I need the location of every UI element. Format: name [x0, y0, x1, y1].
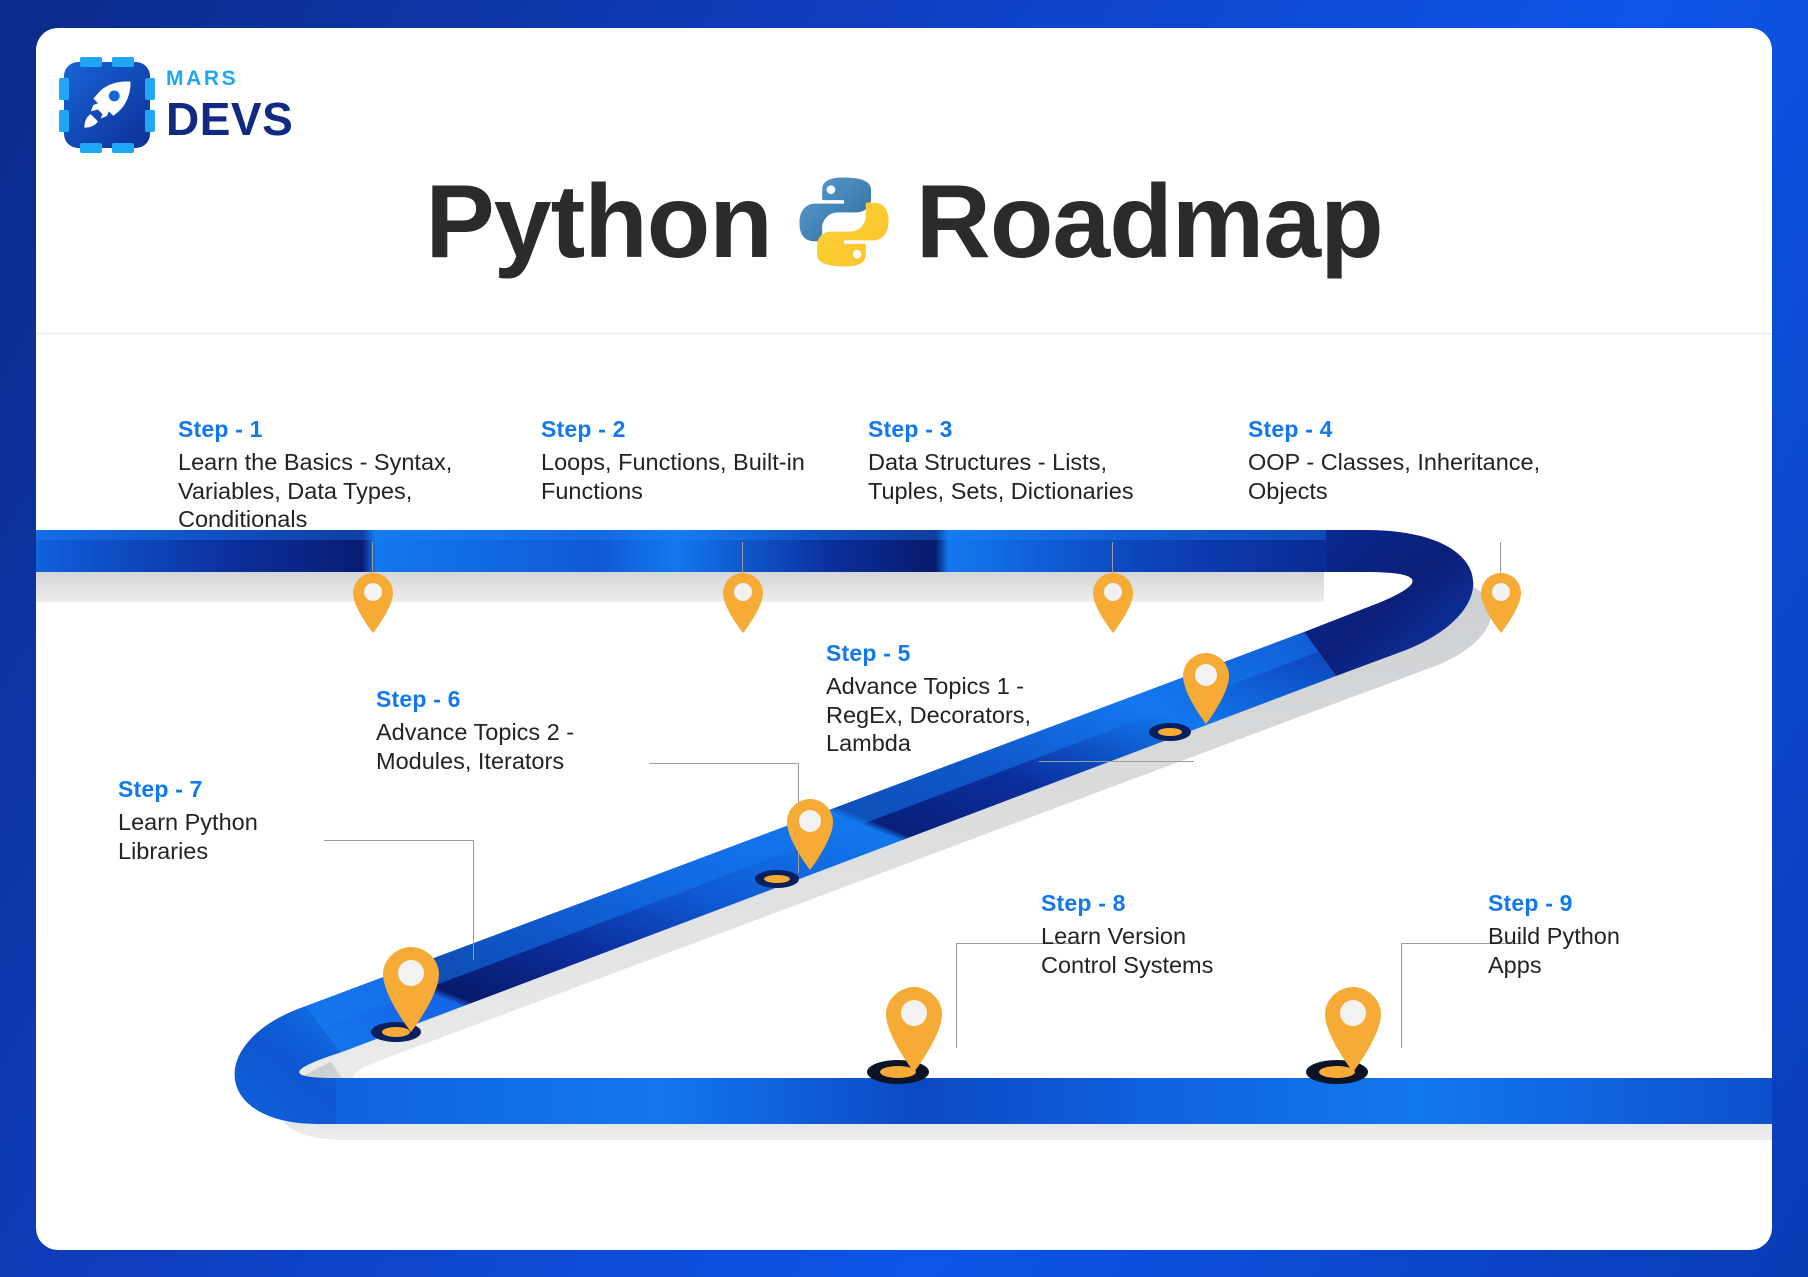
leader-line-step-6: [649, 763, 799, 873]
step-description-1: Learn the Basics - Syntax, Variables, Da…: [178, 448, 478, 534]
rocket-icon: [64, 62, 150, 148]
leader-line-step-7: [324, 840, 474, 960]
infographic-page: MARS DEVS Python Roadmap: [36, 28, 1772, 1250]
step-label-4: Step - 4: [1248, 416, 1578, 443]
callout-step-7: Step - 7 Learn Python Libraries: [118, 776, 308, 865]
map-pin-step-8[interactable]: [883, 986, 945, 1074]
callout-step-5: Step - 5 Advance Topics 1 - RegEx, Decor…: [826, 640, 1056, 758]
map-pin-step-9[interactable]: [1322, 986, 1384, 1074]
callout-step-1: Step - 1 Learn the Basics - Syntax, Vari…: [178, 416, 478, 534]
page-header: MARS DEVS Python Roadmap: [36, 28, 1772, 334]
step-label-9: Step - 9: [1488, 890, 1673, 917]
leader-line-step-5: [1039, 761, 1194, 763]
step-description-4: OOP - Classes, Inheritance, Objects: [1248, 448, 1578, 505]
brand-logo: MARS DEVS: [64, 62, 293, 148]
callout-step-2: Step - 2 Loops, Functions, Built-in Func…: [541, 416, 831, 505]
step-description-5: Advance Topics 1 - RegEx, Decorators, La…: [826, 672, 1056, 758]
map-pin-step-5[interactable]: [1180, 652, 1232, 726]
step-description-8: Learn Version Control Systems: [1041, 922, 1256, 979]
step-description-3: Data Structures - Lists, Tuples, Sets, D…: [868, 448, 1168, 505]
map-pin-step-6[interactable]: [784, 798, 836, 872]
callout-step-9: Step - 9 Build Python Apps: [1488, 890, 1673, 979]
map-pin-step-4[interactable]: [1479, 572, 1523, 634]
callout-step-3: Step - 3 Data Structures - Lists, Tuples…: [868, 416, 1168, 505]
map-pin-step-2[interactable]: [721, 572, 765, 634]
title-word-right: Roadmap: [916, 170, 1383, 274]
brand-main-text: DEVS: [166, 96, 293, 142]
step-label-2: Step - 2: [541, 416, 831, 443]
callout-step-6: Step - 6 Advance Topics 2 - Modules, Ite…: [376, 686, 621, 775]
step-label-3: Step - 3: [868, 416, 1168, 443]
map-pin-step-1[interactable]: [351, 572, 395, 634]
title-word-left: Python: [425, 170, 771, 274]
map-pin-step-7[interactable]: [380, 946, 442, 1034]
step-description-2: Loops, Functions, Built-in Functions: [541, 448, 831, 505]
step-label-5: Step - 5: [826, 640, 1056, 667]
page-title: Python Roadmap: [36, 170, 1772, 274]
map-pin-step-3[interactable]: [1091, 572, 1135, 634]
step-label-8: Step - 8: [1041, 890, 1256, 917]
step-description-7: Learn Python Libraries: [118, 808, 308, 865]
callout-step-8: Step - 8 Learn Version Control Systems: [1041, 890, 1256, 979]
step-description-6: Advance Topics 2 - Modules, Iterators: [376, 718, 621, 775]
python-logo-icon: [796, 174, 892, 270]
step-description-9: Build Python Apps: [1488, 922, 1673, 979]
step-label-6: Step - 6: [376, 686, 621, 713]
step-label-7: Step - 7: [118, 776, 308, 803]
callout-step-4: Step - 4 OOP - Classes, Inheritance, Obj…: [1248, 416, 1578, 505]
brand-top-text: MARS: [166, 68, 293, 89]
step-label-1: Step - 1: [178, 416, 478, 443]
